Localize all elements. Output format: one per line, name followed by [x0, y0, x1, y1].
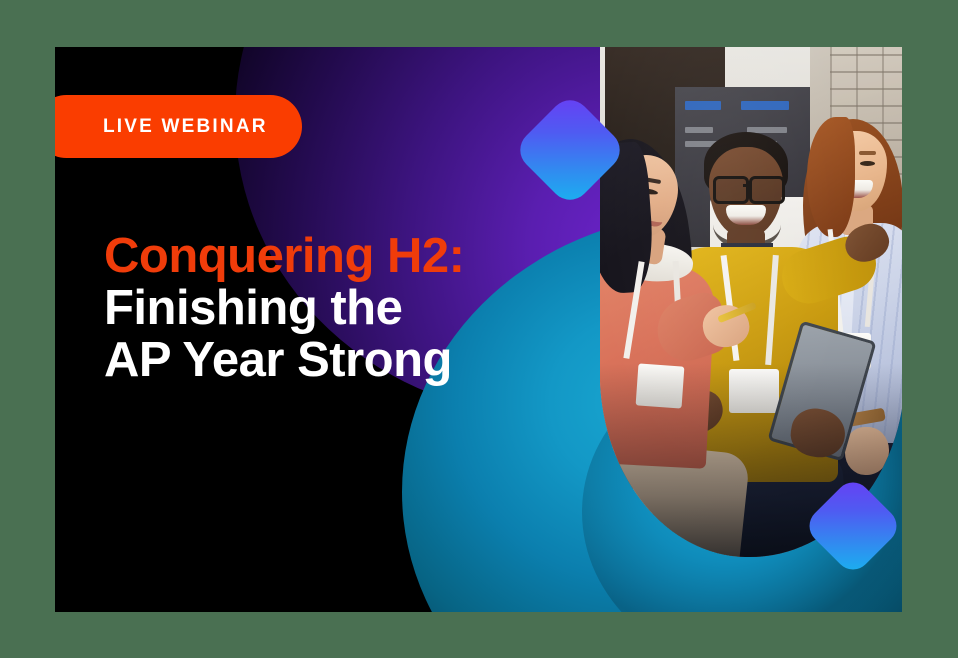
board-note [741, 101, 789, 110]
headline-line-1: Conquering H2: [104, 230, 574, 282]
headline-line-3: AP Year Strong [104, 334, 574, 386]
glasses-icon [713, 176, 749, 204]
person-blue-shirt-hand [845, 427, 889, 475]
glasses-bridge [743, 184, 751, 187]
banner-stage: LIVE WEBINAR Conquering H2: Finishing th… [0, 0, 958, 658]
person-blue-shirt-eye [860, 161, 875, 166]
glasses-icon [749, 176, 785, 204]
webinar-banner-panel: LIVE WEBINAR Conquering H2: Finishing th… [55, 47, 902, 612]
live-webinar-badge: LIVE WEBINAR [55, 95, 302, 158]
person-blue-shirt-hair-front [807, 117, 855, 237]
page-title: Conquering H2: Finishing the AP Year Str… [104, 230, 574, 386]
person-coral-badge [636, 363, 685, 408]
person-blue-shirt-brow [859, 151, 876, 155]
person-mustard-badge [729, 369, 779, 413]
board-note [685, 101, 721, 110]
headline-line-2: Finishing the [104, 282, 574, 334]
live-webinar-badge-label: LIVE WEBINAR [103, 117, 268, 136]
board-note [685, 127, 713, 133]
